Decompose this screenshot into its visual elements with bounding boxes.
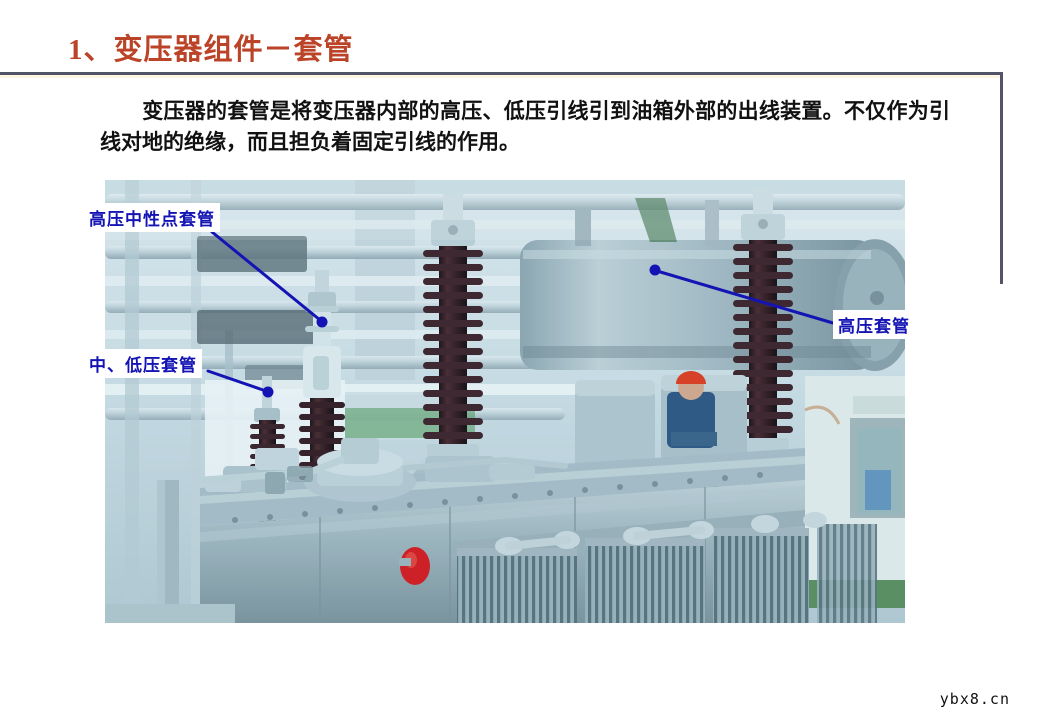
paragraph-text: 变压器的套管是将变压器内部的高压、低压引线引到油箱外部的出线装置。不仅作为引线对… — [100, 99, 950, 154]
transformer-photo — [105, 180, 905, 623]
header-divider-glow — [0, 75, 1003, 78]
header-divider-vertical — [1000, 72, 1003, 284]
annotation-label-hv-neutral: 高压中性点套管 — [84, 203, 220, 232]
slide-root: 1、变压器组件－套管 变压器的套管是将变压器内部的高压、低压引线引到油箱外部的出… — [0, 0, 1040, 720]
annotation-label-hv: 高压套管 — [833, 310, 915, 339]
site-watermark: ybx8.cn — [940, 690, 1010, 708]
page-title: 1、变压器组件－套管 — [68, 26, 354, 68]
annotation-label-mv-lv: 中、低压套管 — [84, 349, 202, 378]
body-paragraph: 变压器的套管是将变压器内部的高压、低压引线引到油箱外部的出线装置。不仅作为引线对… — [100, 96, 950, 158]
